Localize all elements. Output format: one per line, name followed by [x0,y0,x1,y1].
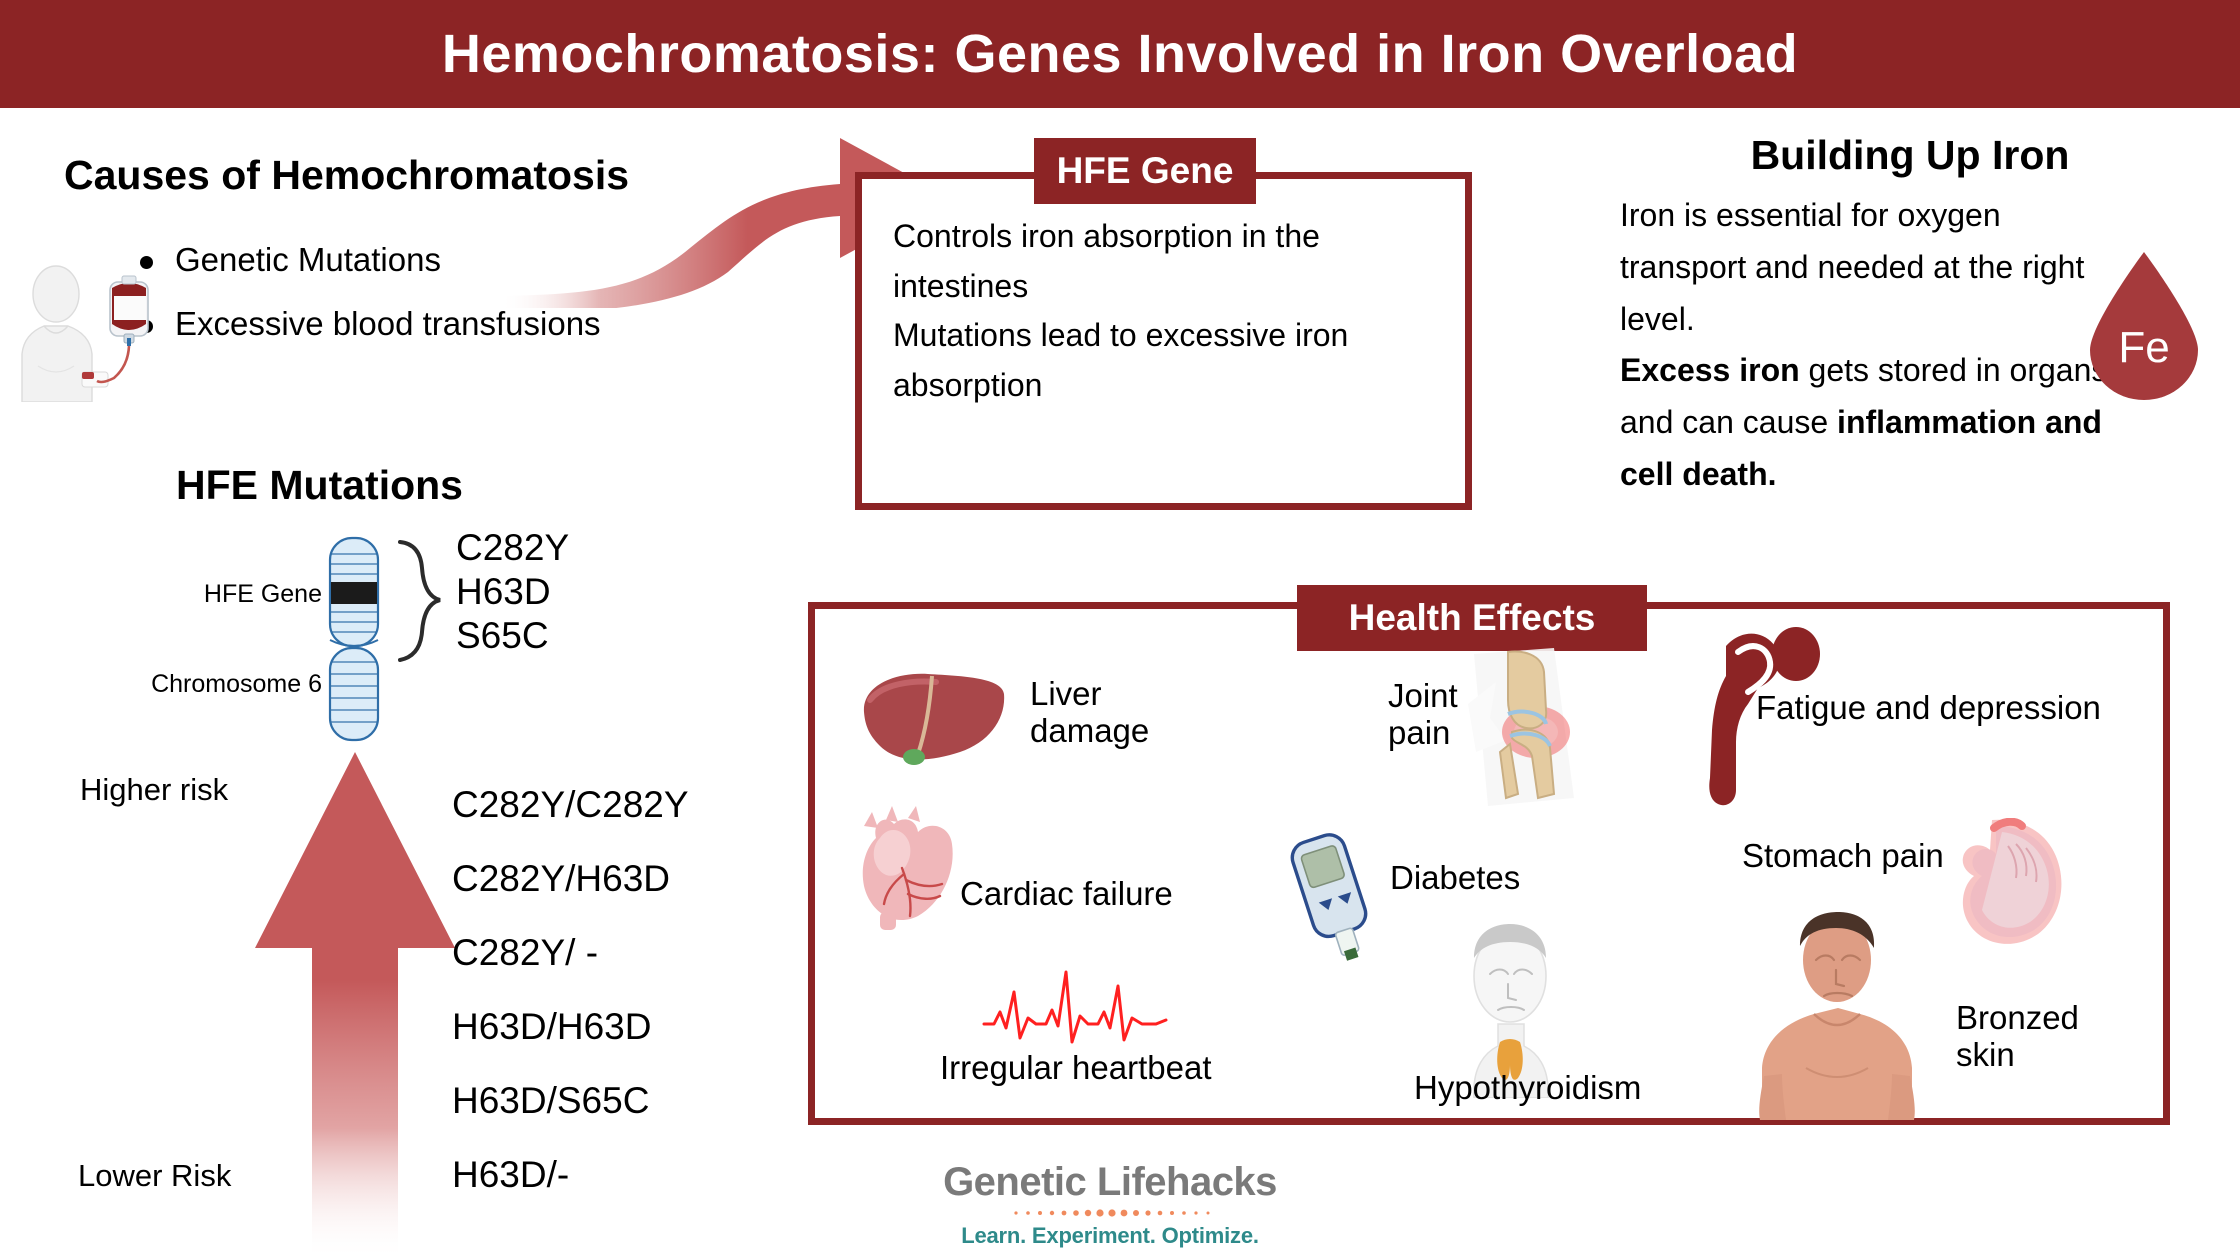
health-effects-badge: Health Effects [1297,585,1647,651]
genotype-item: C282Y/H63D [452,842,782,916]
effect-label-hypothyroidism: Hypothyroidism [1414,1070,1694,1107]
brand-tagline: Learn. Experiment. Optimize. [905,1223,1315,1249]
iron-bold-lead: Excess iron [1620,352,1800,388]
ecg-waveform-icon [980,966,1170,1046]
genotype-item: C282Y/ - [452,916,782,990]
effect-label-stomach-pain: Stomach pain [1742,838,1992,875]
higher-risk-label: Higher risk [80,772,228,808]
hfe-line-1: Mutations lead to excessive iron absorpt… [893,311,1453,410]
fe-symbol-text: Fe [2118,323,2169,372]
hfe-gene-pointer-label: HFE Gene [204,580,322,608]
genotype-risk-list: C282Y/C282Y C282Y/H63D C282Y/ - H63D/H63… [452,768,782,1212]
cause-label-0: Genetic Mutations [175,240,441,280]
chromosome-label: Chromosome 6 [151,670,322,698]
logo-dot-divider-icon [980,1208,1240,1217]
brand-logo: Genetic Lifehacks Learn. Experiment. Opt… [905,1160,1315,1249]
effect-label-irregular-heartbeat: Irregular heartbeat [940,1050,1280,1087]
effect-label-bronzed-skin: Bronzed skin [1956,1000,2146,1074]
genotype-item: H63D/S65C [452,1064,782,1138]
page-title: Hemochromatosis: Genes Involved in Iron … [0,0,2240,108]
effect-label-joint-pain: Joint pain [1388,678,1508,752]
genotype-item: C282Y/C282Y [452,768,782,842]
lower-risk-label: Lower Risk [78,1158,231,1194]
genotype-item: H63D/H63D [452,990,782,1064]
hfe-gene-body: Controls iron absorption in the intestin… [893,212,1453,410]
chromosome-6-diagram: HFE Gene Chromosome 6 C282Y H63D S65C [100,528,720,743]
hfe-mutations-title: HFE Mutations [176,462,556,509]
effect-label-liver-damage: Liver damage [1030,676,1220,750]
brand-name: Genetic Lifehacks [905,1160,1315,1205]
patient-blood-transfusion-icon [2,262,162,402]
liver-icon [852,660,1012,780]
heart-icon [846,802,976,932]
hfe-gene-badge: HFE Gene [1034,138,1256,204]
genotype-item: H63D/- [452,1138,782,1212]
hfe-line-0: Controls iron absorption in the intestin… [893,212,1453,311]
building-iron-title: Building Up Iron [1620,132,2200,179]
list-item: Excessive blood transfusions [140,304,760,344]
iron-droplet-icon: Fe [2086,250,2202,400]
chromosome-upper-arm [330,538,378,646]
chromosome-lower-arm [330,648,378,740]
effect-label-cardiac-failure: Cardiac failure [960,876,1280,913]
iron-paragraph-1: Iron is essential for oxygen transport a… [1620,197,2084,337]
effect-label-diabetes: Diabetes [1390,860,1590,897]
glucose-meter-icon [1288,828,1378,968]
variant-0: C282Y [456,528,569,568]
effect-label-fatigue-depression: Fatigue and depression [1756,690,2186,727]
bronzed-torso-icon [1742,912,1932,1120]
risk-gradient-arrow-icon [250,752,460,1260]
building-iron-body: Iron is essential for oxygen transport a… [1620,190,2130,501]
cause-label-1: Excessive blood transfusions [175,304,601,344]
variant-1: H63D [456,571,551,612]
variant-2: S65C [456,615,549,656]
